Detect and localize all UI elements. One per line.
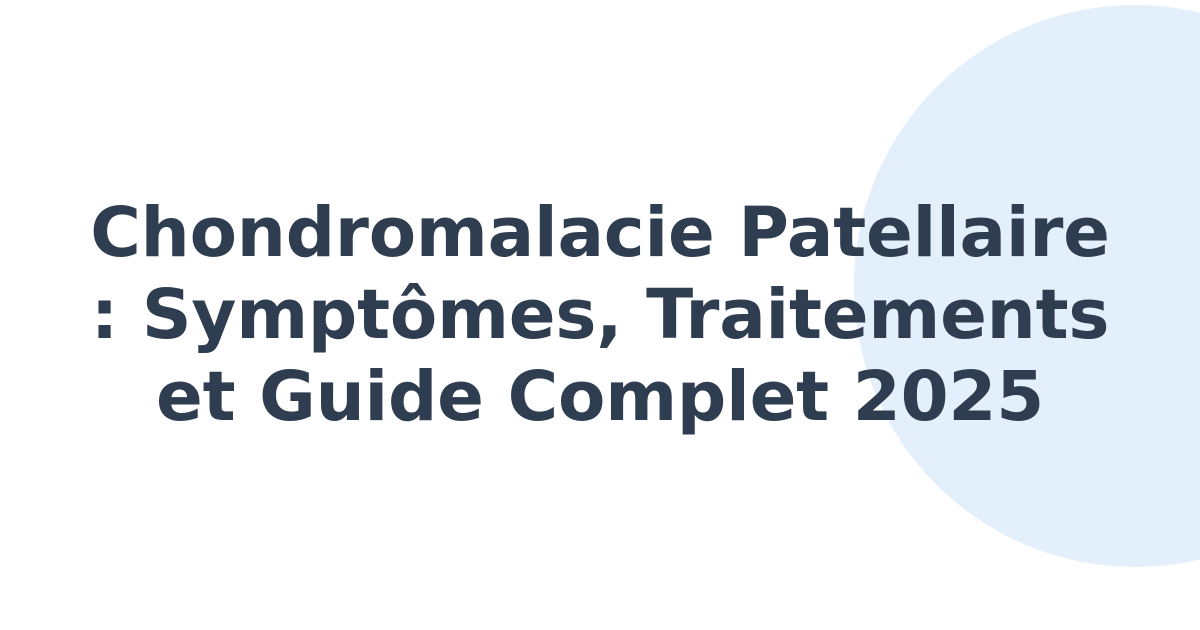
- page-title: Chondromalacie Patellaire : Symptômes, T…: [90, 192, 1110, 438]
- og-card: Chondromalacie Patellaire : Symptômes, T…: [0, 0, 1200, 630]
- headline-container: Chondromalacie Patellaire : Symptômes, T…: [70, 192, 1130, 438]
